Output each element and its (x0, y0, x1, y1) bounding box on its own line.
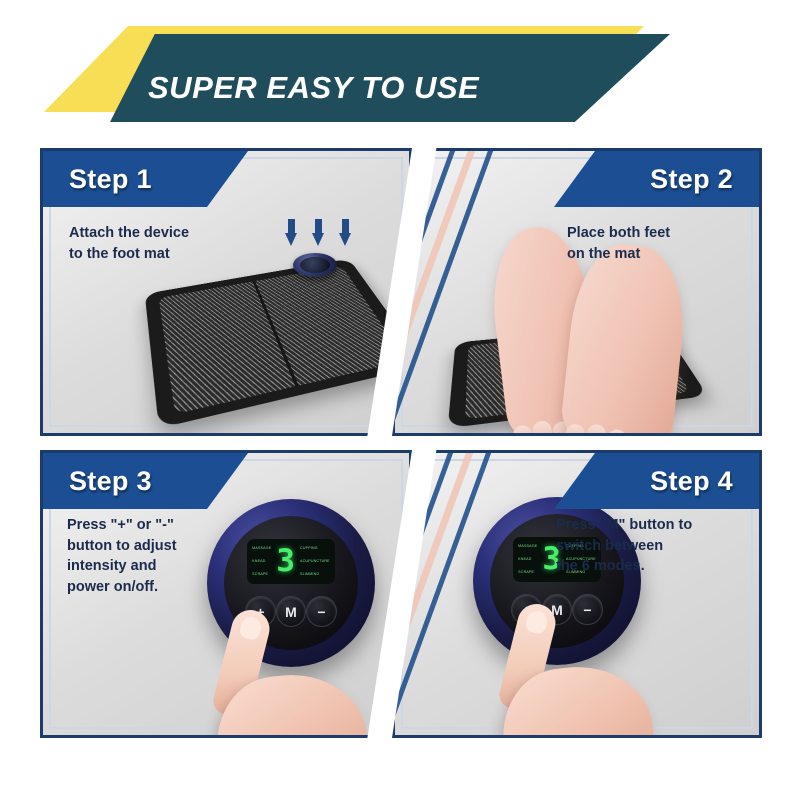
mode-label: SCRAPE (252, 572, 271, 577)
control-pod-face (300, 257, 330, 273)
toe (564, 423, 586, 436)
mode-labels-right: CUPPING ACUPUNCTURE SLIMMING (300, 542, 330, 582)
pointing-hand-step4 (483, 603, 683, 738)
steps-row-bottom: MASSAGE KNEAD SCRAPE 3 CUPPING ACUPUNCTU… (40, 450, 762, 738)
toe (626, 435, 644, 436)
remote-display: MASSAGE KNEAD SCRAPE 3 CUPPING ACUPUNCTU… (247, 539, 336, 585)
step-tab-4: Step 4 (554, 453, 759, 509)
toe (606, 429, 627, 436)
steps-row-top: Step 1 Attach the device to the foot mat (40, 148, 762, 436)
step-panel-3: MASSAGE KNEAD SCRAPE 3 CUPPING ACUPUNCTU… (40, 450, 412, 738)
step-2-description: Place both feet on the mat (567, 223, 737, 264)
page-title: SUPER EASY TO USE (148, 70, 479, 106)
mode-label: MASSAGE (252, 546, 271, 551)
mode-label: KNEAD (252, 559, 271, 564)
steps-grid: Step 1 Attach the device to the foot mat (40, 148, 762, 738)
control-pod (293, 253, 337, 277)
step-tab-1: Step 1 (43, 151, 248, 207)
step-tab-3-label: Step 3 (69, 466, 152, 497)
mode-label: KNEAD (518, 557, 537, 562)
ems-foot-mat (145, 259, 412, 429)
step-panel-1: Step 1 Attach the device to the foot mat (40, 148, 412, 436)
fingernail (238, 615, 263, 641)
down-arrow-icon (285, 219, 298, 249)
step-tab-3: Step 3 (43, 453, 248, 509)
mode-label: MASSAGE (518, 544, 537, 549)
mode-label: ACUPUNCTURE (300, 559, 330, 564)
down-arrow-icon (339, 219, 352, 249)
mode-labels-left: MASSAGE KNEAD SCRAPE (518, 540, 537, 580)
step-panel-2: Step 2 Place both feet on the mat (392, 148, 762, 436)
step-3-description: Press "+" or "-" button to adjust intens… (67, 515, 242, 597)
step-panel-4: MASSAGE KNEAD SCRAPE 3 CUPPING ACUPUNCTU… (392, 450, 762, 738)
down-arrows-group (285, 219, 352, 249)
header-banner: SUPER EASY TO USE (0, 26, 800, 118)
mat-textured-surface (159, 266, 406, 414)
step-tab-1-label: Step 1 (69, 164, 152, 195)
pointing-hand-step3 (195, 609, 395, 738)
fingernail (524, 609, 549, 635)
product-instruction-infographic: SUPER EASY TO USE (0, 0, 800, 800)
toes-group (558, 410, 673, 436)
step-4-description: Press "M" button to switch between the 6… (556, 515, 741, 577)
down-arrow-icon (312, 219, 325, 249)
foot-mat-illustration (153, 239, 403, 424)
toe (585, 424, 607, 436)
step-tab-4-label: Step 4 (650, 466, 733, 497)
step-tab-2-label: Step 2 (650, 164, 733, 195)
step-tab-2: Step 2 (554, 151, 759, 207)
mode-label: SLIMMING (300, 572, 330, 577)
toe (512, 424, 534, 436)
step-1-description: Attach the device to the foot mat (69, 223, 249, 264)
mode-label: SCRAPE (518, 570, 537, 575)
intensity-level-value: 3 (276, 548, 295, 576)
toe (532, 420, 554, 436)
mode-labels-left: MASSAGE KNEAD SCRAPE (252, 542, 271, 582)
mode-label: CUPPING (300, 546, 330, 551)
